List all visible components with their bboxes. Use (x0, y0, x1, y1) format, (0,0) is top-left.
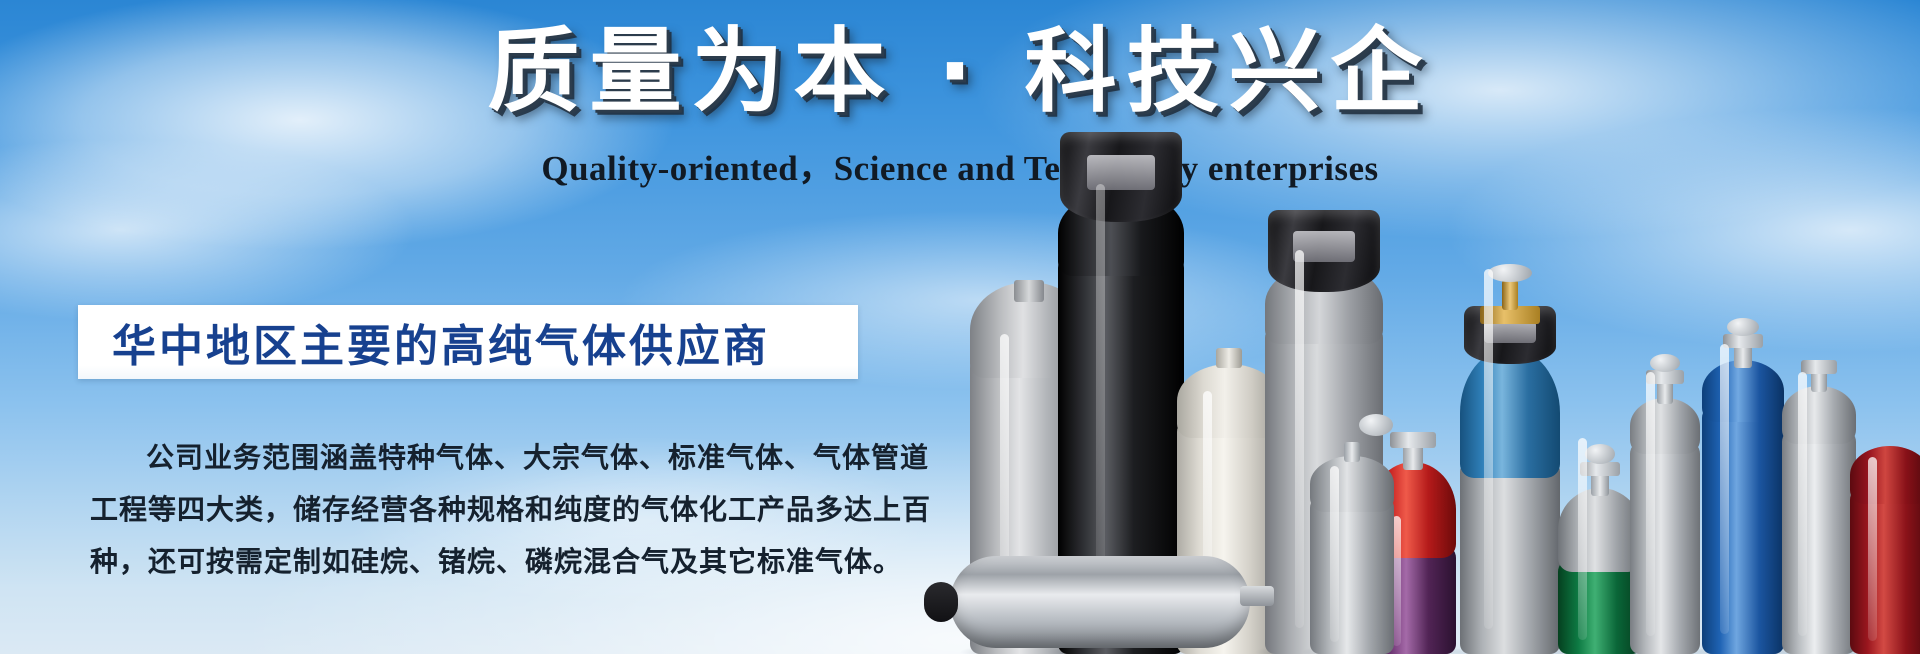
description-paragraph: 公司业务范围涵盖特种气体、大宗气体、标准气体、气体管道 工程等四大类，储存经营各… (90, 432, 880, 588)
tagline-text: 华中地区主要的高纯气体供应商 (112, 310, 770, 374)
cylinder-handwheel (1359, 414, 1393, 436)
cylinder-body (1782, 428, 1856, 654)
cylinder-aluminium-front (1310, 454, 1394, 654)
description-line-1: 公司业务范围涵盖特种气体、大宗气体、标准气体、气体管道 (90, 432, 880, 484)
cylinder-handwheel (1488, 264, 1532, 282)
cylinder-valve (1723, 334, 1763, 348)
tank-horizontal-front (950, 556, 1250, 648)
cylinder-neck (1014, 280, 1044, 302)
cylinder-neck (1216, 348, 1242, 368)
cylinder-shoulder (1850, 446, 1920, 504)
cylinder-silver-tall (1782, 354, 1856, 654)
tank-end-cap (924, 582, 958, 622)
cylinder-shoulder (1782, 386, 1856, 444)
cylinder-shoulder (1460, 348, 1560, 478)
cylinder-body (1310, 494, 1394, 654)
cylinder-cap-guard (1060, 132, 1182, 222)
cylinder-cap-guard (1268, 210, 1380, 292)
cylinder-handwheel (1585, 444, 1615, 464)
cylinder-body (1630, 440, 1700, 654)
cylinder-blue-tall (1702, 324, 1784, 654)
cylinder-body (1702, 404, 1784, 654)
cylinder-valve (1801, 360, 1837, 374)
cylinder-handwheel (1650, 354, 1680, 372)
cylinder-neck (1344, 442, 1360, 462)
tank-valve (1240, 586, 1274, 606)
tagline-highlight-box: 华中地区主要的高纯气体供应商 (78, 305, 858, 379)
cylinder-handwheel (1727, 318, 1759, 336)
cylinder-body (1460, 458, 1560, 654)
cylinder-silver-narrow (1630, 354, 1700, 654)
gas-cylinder-group-image (930, 0, 1920, 654)
cylinder-shoulder (1630, 398, 1700, 454)
description-line-3: 种，还可按需定制如硅烷、锗烷、磷烷混合气及其它标准气体。 (90, 536, 880, 588)
cylinder-blue-brass-valve (1460, 244, 1560, 654)
cylinder-body (1850, 486, 1920, 654)
promotional-banner: 质量为本 · 科技兴企 Quality-oriented，Science and… (0, 0, 1920, 654)
description-line-2: 工程等四大类，储存经营各种规格和纯度的气体化工产品多达上百 (90, 484, 880, 536)
cylinder-valve (1390, 432, 1436, 448)
cylinder-darkred-short (1850, 444, 1920, 654)
cylinder-shoulder (1310, 456, 1394, 512)
cylinder-brass-stem (1502, 280, 1518, 310)
cylinder-shoulder (1702, 360, 1784, 422)
